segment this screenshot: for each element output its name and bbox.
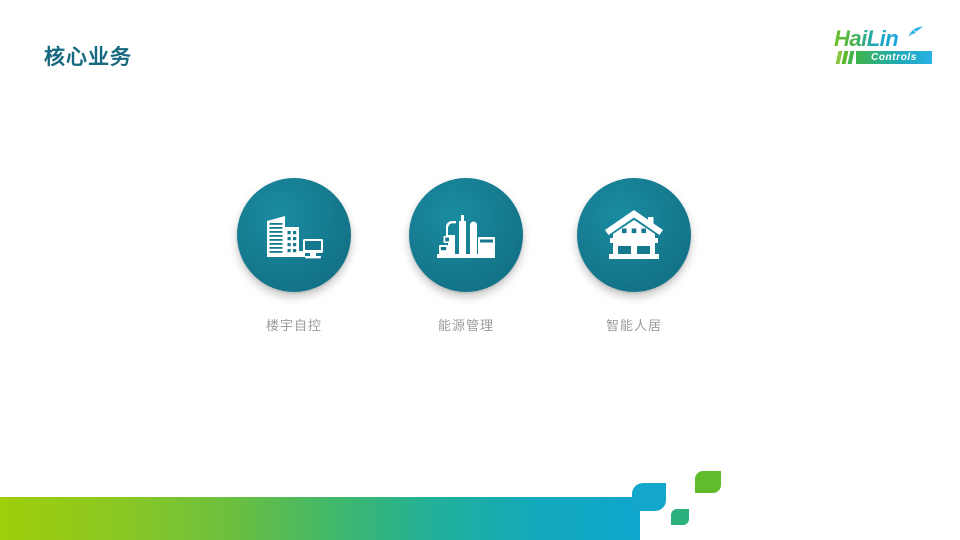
card-energy-management[interactable]: 能源管理 bbox=[386, 178, 546, 334]
card-icon-circle bbox=[237, 178, 351, 292]
card-smart-living[interactable]: 智能人居 bbox=[554, 178, 714, 334]
slide-canvas: 核心业务 HaiLin Controls bbox=[0, 0, 960, 540]
card-label: 楼宇自控 bbox=[214, 315, 374, 334]
card-building-automation[interactable]: 楼宇自控 bbox=[214, 178, 374, 334]
card-icon-circle bbox=[577, 178, 691, 292]
industrial-plant-icon bbox=[435, 207, 497, 263]
bottom-gradient-bar bbox=[0, 497, 640, 540]
house-icon bbox=[604, 208, 664, 262]
card-label: 智能人居 bbox=[554, 315, 714, 334]
bottom-notch-shape bbox=[632, 483, 666, 511]
decoration-square-green bbox=[695, 471, 721, 493]
card-icon-circle bbox=[409, 178, 523, 292]
office-building-monitor-icon bbox=[263, 207, 325, 263]
decoration-square-teal bbox=[671, 509, 689, 525]
card-label: 能源管理 bbox=[386, 315, 546, 334]
core-business-cards: 楼宇自控 bbox=[0, 0, 960, 540]
